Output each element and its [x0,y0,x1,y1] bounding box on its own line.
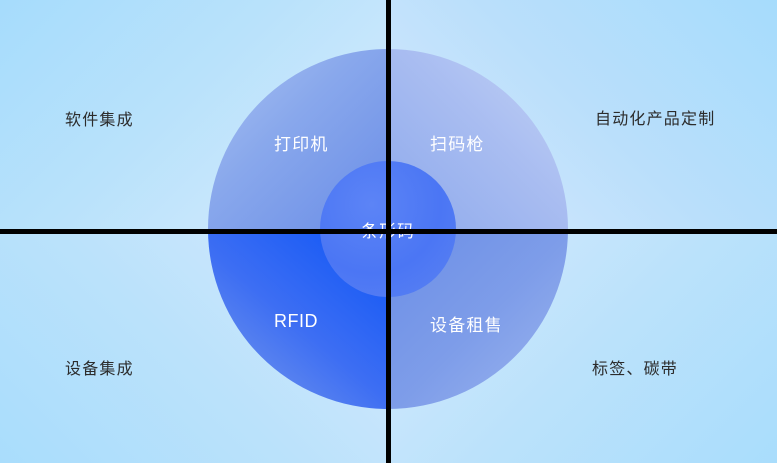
horizontal-axis-line [0,229,777,234]
quadrant-label-equipment: 设备集成 [65,355,134,379]
segment-label-scanner: 扫码枪 [430,130,485,155]
segment-label-printer: 打印机 [274,130,329,155]
diagram-canvas: 条形码 打印机 扫码枪 RFID 设备租售 软件集成 自动化产品定制 设备集成 … [0,0,777,463]
segment-label-rental: 设备租售 [430,311,503,336]
quadrant-label-automation: 自动化产品定制 [595,105,715,129]
quadrant-label-consumable: 标签、碳带 [592,355,678,379]
segment-label-rfid: RFID [274,311,318,332]
quadrant-label-software: 软件集成 [65,106,134,130]
